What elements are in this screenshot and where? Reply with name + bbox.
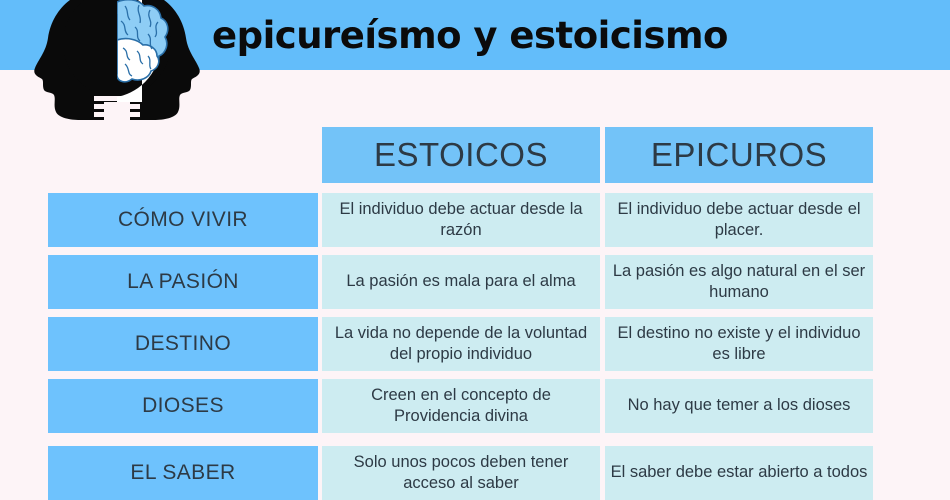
row-label-como-vivir: CÓMO VIVIR: [48, 193, 318, 247]
cell-estoicos-la-pasion: La pasión es mala para el alma: [322, 255, 600, 309]
row-label-el-saber: EL SABER: [48, 446, 318, 500]
cell-epicuros-la-pasion: La pasión es algo natural en el ser huma…: [605, 255, 873, 309]
cell-epicuros-el-saber: El saber debe estar abierto a todos: [605, 446, 873, 500]
cell-epicuros-dioses: No hay que temer a los dioses: [605, 379, 873, 433]
row-label-la-pasion: LA PASIÓN: [48, 255, 318, 309]
cell-estoicos-como-vivir: El individuo debe actuar desde la razón: [322, 193, 600, 247]
cell-estoicos-el-saber: Solo unos pocos deben tener acceso al sa…: [322, 446, 600, 500]
column-header-estoicos: ESTOICOS: [322, 127, 600, 183]
row-label-dioses: DIOSES: [48, 379, 318, 433]
cell-epicuros-destino: El destino no existe y el individuo es l…: [605, 317, 873, 371]
cell-estoicos-dioses: Creen en el concepto de Providencia divi…: [322, 379, 600, 433]
row-label-destino: DESTINO: [48, 317, 318, 371]
column-header-epicuros: EPICUROS: [605, 127, 873, 183]
cell-estoicos-destino: La vida no depende de la voluntad del pr…: [322, 317, 600, 371]
comparison-table: ESTOICOS EPICUROS CÓMO VIVIR El individu…: [0, 0, 950, 500]
cell-epicuros-como-vivir: El individuo debe actuar desde el placer…: [605, 193, 873, 247]
